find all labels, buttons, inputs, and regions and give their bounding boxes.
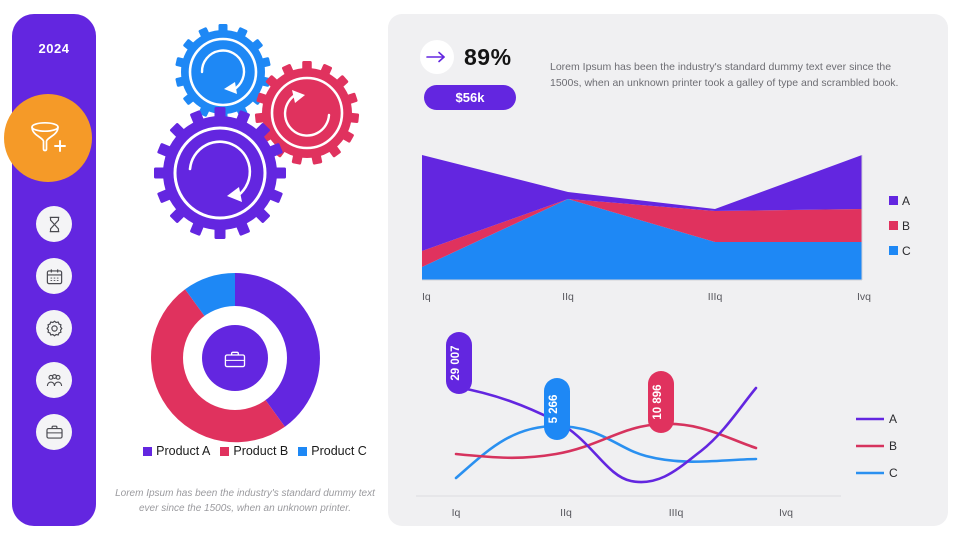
legend-swatch-c <box>889 246 898 255</box>
area-x-tick-3: Ivq <box>857 291 871 303</box>
legend-item-product-c[interactable]: Product C <box>298 444 367 458</box>
legend-label-c[interactable]: C <box>902 244 911 258</box>
sidebar-nav <box>12 206 96 450</box>
hourglass-icon <box>45 215 64 234</box>
sidebar-item-calendar[interactable] <box>36 258 72 294</box>
legend-label-product-b: Product B <box>233 444 288 458</box>
gears-illustration <box>140 20 370 255</box>
area-x-tick-0: Iq <box>422 291 431 303</box>
line-annotation-1[interactable]: 5 266 <box>544 378 570 440</box>
sidebar-item-briefcase[interactable] <box>36 414 72 450</box>
sidebar: 2024 <box>12 14 96 526</box>
line-x-tick-0: Iq <box>452 507 461 519</box>
line-chart-svg: 29 007 5 266 10 896 Iq IIq IIIq Ivq A <box>416 326 936 521</box>
briefcase-icon <box>45 423 64 442</box>
gear-icon <box>45 319 64 338</box>
sidebar-item-team[interactable] <box>36 362 72 398</box>
people-icon <box>45 371 64 390</box>
line-x-tick-3: Ivq <box>779 507 793 519</box>
kpi-percent: 89% <box>464 44 512 71</box>
legend-label-line-a[interactable]: A <box>889 412 897 426</box>
line-annotation-label-0: 29 007 <box>450 345 462 380</box>
funnel-add-button[interactable] <box>4 94 92 182</box>
arrow-right-icon <box>426 50 448 64</box>
donut-chart <box>140 270 330 455</box>
legend-item-product-b[interactable]: Product B <box>220 444 288 458</box>
legend-swatch-product-b <box>220 447 229 456</box>
line-annotation-label-1: 5 266 <box>548 395 560 424</box>
area-x-tick-1: IIq <box>562 291 574 303</box>
line-chart: 29 007 5 266 10 896 Iq IIq IIIq Ivq A <box>416 326 936 521</box>
line-annotation-0[interactable]: 29 007 <box>446 332 472 394</box>
area-chart: Iq IIq IIIq Ivq A B C <box>402 138 942 318</box>
line-series-c[interactable] <box>456 426 756 478</box>
sidebar-item-settings[interactable] <box>36 310 72 346</box>
line-x-tick-1: IIq <box>560 507 572 519</box>
legend-label-product-c: Product C <box>311 444 367 458</box>
left-caption: Lorem Ipsum has been the industry's stan… <box>112 486 378 516</box>
area-x-tick-2: IIIq <box>708 291 723 303</box>
legend-label-line-c[interactable]: C <box>889 466 898 480</box>
legend-label-a[interactable]: A <box>902 194 910 208</box>
legend-item-product-a[interactable]: Product A <box>143 444 210 458</box>
line-x-tick-2: IIIq <box>669 507 684 519</box>
line-annotation-label-2: 10 896 <box>652 384 664 419</box>
three-gears-icon <box>140 20 370 250</box>
kpi-amount-badge[interactable]: $56k <box>424 85 516 110</box>
main-panel: 89% $56k Lorem Ipsum has been the indust… <box>388 14 948 526</box>
sidebar-item-hourglass[interactable] <box>36 206 72 242</box>
area-chart-svg: Iq IIq IIIq Ivq A B C <box>402 138 942 318</box>
legend-swatch-a <box>889 196 898 205</box>
legend-swatch-b <box>889 221 898 230</box>
legend-label-product-a: Product A <box>156 444 210 458</box>
area-chart-legend: A B C <box>889 194 911 258</box>
kpi-description: Lorem Ipsum has been the industry's stan… <box>550 59 920 91</box>
donut-legend: Product A Product B Product C <box>130 444 380 458</box>
donut-chart-svg <box>140 270 330 450</box>
calendar-icon <box>45 267 64 286</box>
funnel-plus-icon <box>26 116 70 160</box>
legend-swatch-product-c <box>298 447 307 456</box>
line-annotation-2[interactable]: 10 896 <box>648 371 674 433</box>
sidebar-year: 2024 <box>39 41 70 56</box>
line-series-a[interactable] <box>456 387 756 482</box>
kpi-arrow-button[interactable] <box>420 40 454 74</box>
legend-label-line-b[interactable]: B <box>889 439 897 453</box>
kpi-block: 89% $56k <box>420 40 516 110</box>
legend-label-b[interactable]: B <box>902 219 910 233</box>
legend-swatch-product-a <box>143 447 152 456</box>
line-chart-legend: A B C <box>856 412 898 480</box>
